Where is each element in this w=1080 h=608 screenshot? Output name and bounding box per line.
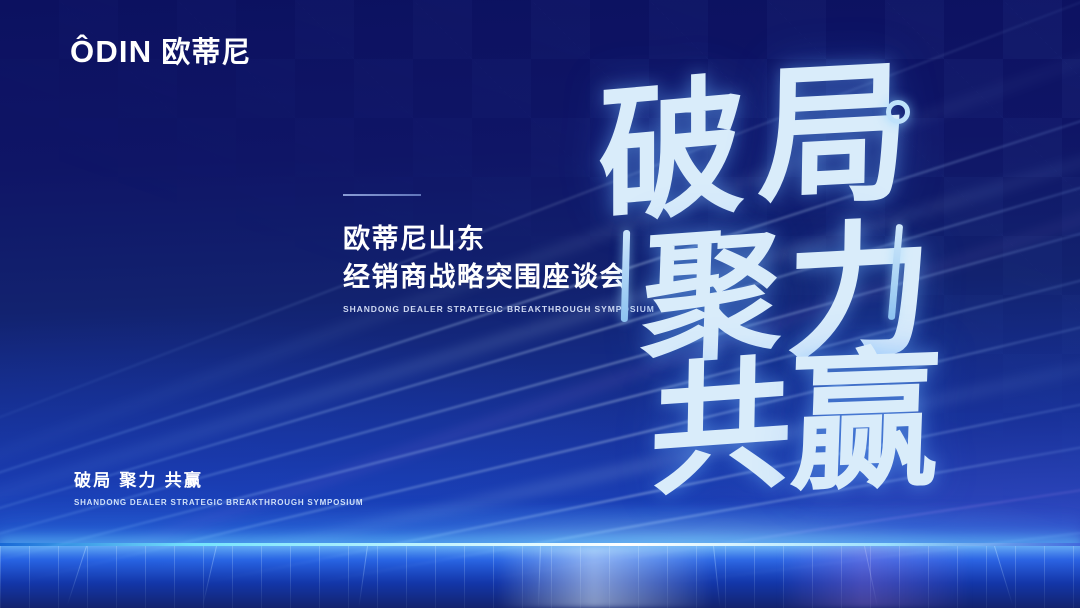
calligraphy-char-gong: 共 [649, 353, 793, 505]
logo-cjk-text: 欧蒂尼 [161, 39, 251, 68]
calligraphy-artwork: 破 局 聚 力 共 赢 [590, 52, 1010, 472]
calligraphy-char-ying: 赢 [787, 345, 942, 501]
event-title-line-1: 欧蒂尼山东 [343, 222, 613, 258]
event-title-block: 欧蒂尼山东 经销商战略突围座谈会 SHANDONG DEALER STRATEG… [343, 194, 613, 314]
event-title-english: SHANDONG DEALER STRATEGIC BREAKTHROUGH S… [343, 304, 613, 314]
title-divider-rule [343, 194, 421, 196]
stage-floor [0, 546, 1080, 608]
footer-slogan-block: 破局 聚力 共赢 SHANDONG DEALER STRATEGIC BREAK… [74, 466, 363, 507]
accent-bar-left [621, 230, 630, 322]
degree-ring-icon [886, 100, 910, 124]
footer-slogan-english: SHANDONG DEALER STRATEGIC BREAKTHROUGH S… [74, 498, 363, 507]
calligraphy-char-ju: 局 [757, 56, 911, 216]
event-banner: ÔDIN 欧蒂尼 欧蒂尼山东 经销商战略突围座谈会 SHANDONG DEALE… [0, 0, 1080, 608]
footer-slogan-cjk: 破局 聚力 共赢 [74, 466, 363, 491]
logo-latin-text: ÔDIN [70, 36, 152, 67]
event-title-line-2: 经销商战略突围座谈会 [343, 260, 613, 296]
calligraphy-char-po: 破 [598, 71, 745, 232]
brand-logo: ÔDIN 欧蒂尼 [70, 36, 251, 68]
floor-reflection-sheen [0, 546, 1080, 608]
